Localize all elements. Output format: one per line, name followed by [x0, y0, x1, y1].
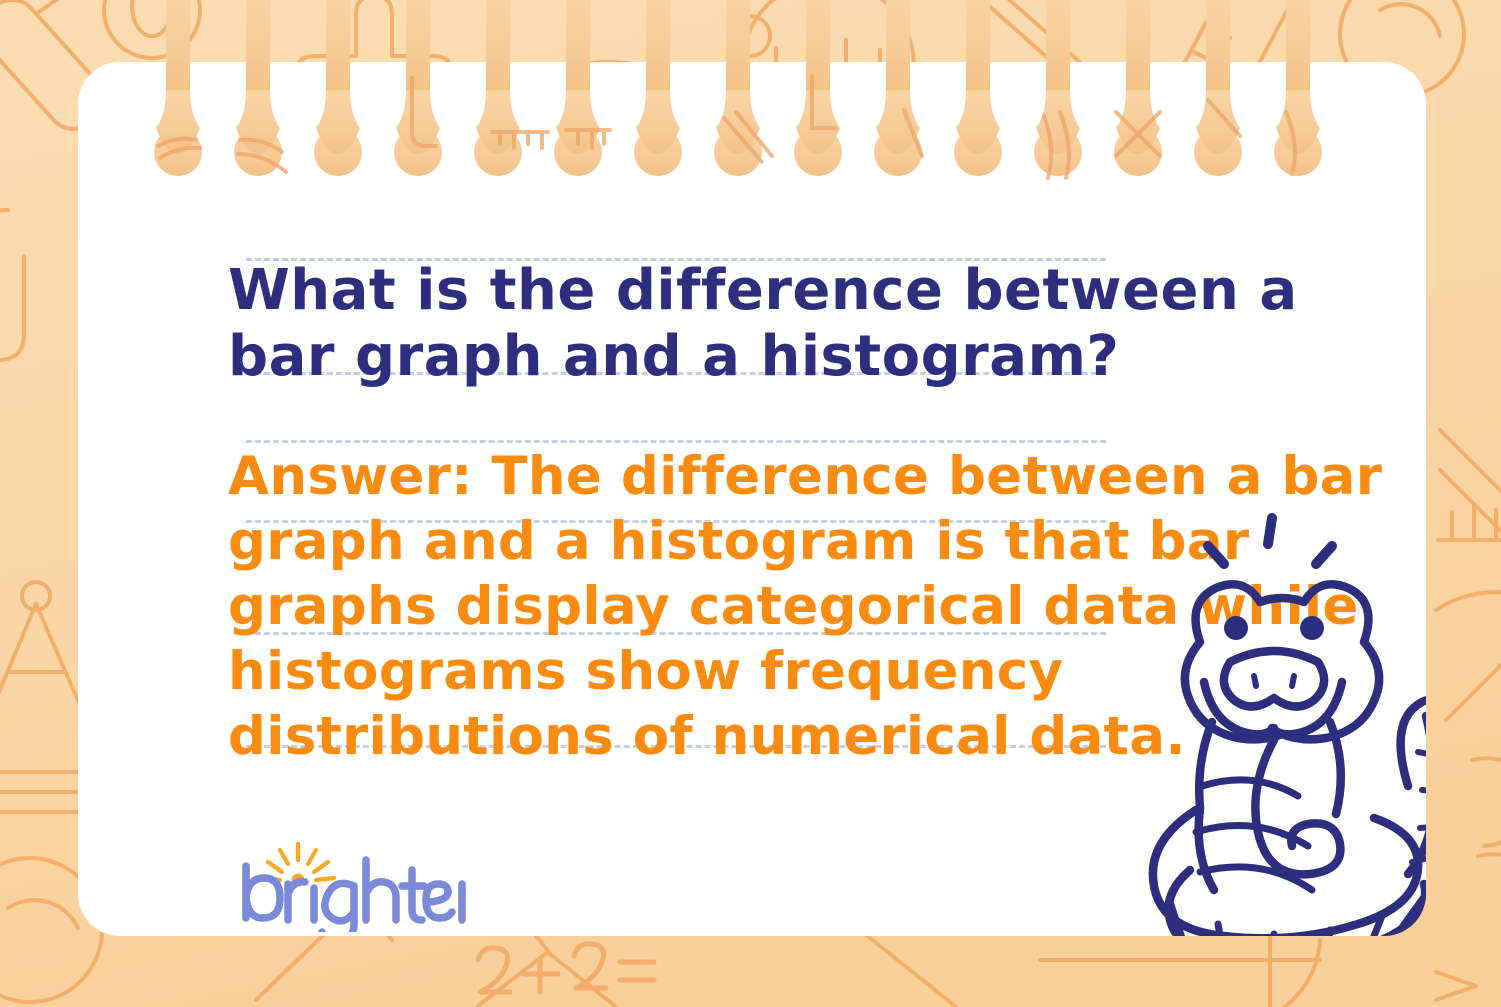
- flashcard-panel: What is the difference between a bar gra…: [78, 62, 1426, 936]
- ruled-line: [246, 440, 1106, 443]
- motion-dash-icon: [1208, 518, 1332, 564]
- question-text: What is the difference between a bar gra…: [228, 258, 1388, 390]
- snake-eye-left: [1224, 616, 1248, 640]
- flashcard-stage: What is the difference between a bar gra…: [0, 0, 1501, 1007]
- brighterly-logo[interactable]: Brighterly: [236, 842, 466, 932]
- snake-eye-right: [1300, 616, 1324, 640]
- snake-illustration: [1126, 510, 1426, 936]
